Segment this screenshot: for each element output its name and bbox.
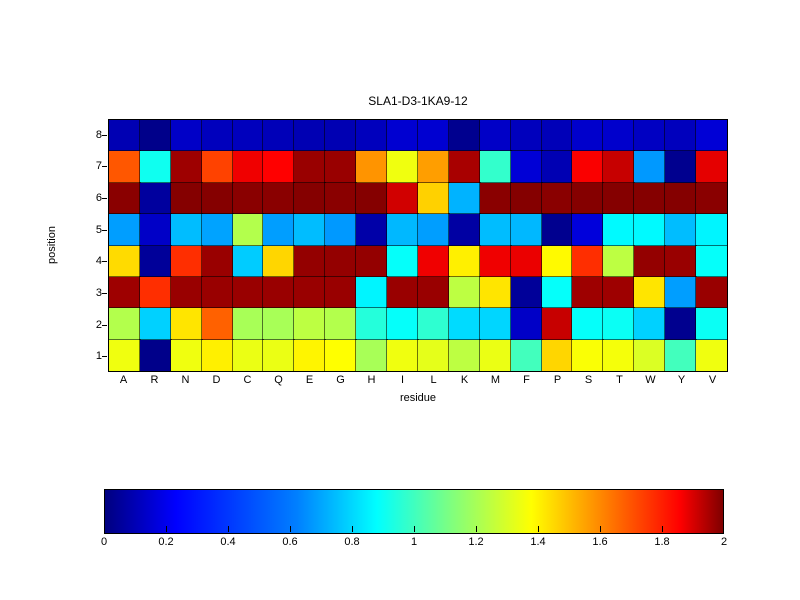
colorbar-tick-mark	[166, 526, 167, 532]
heatmap-cell	[263, 340, 294, 371]
heatmap-cell	[233, 120, 264, 151]
heatmap-cell	[202, 214, 233, 245]
heatmap-cell	[202, 277, 233, 308]
y-axis-label: position	[46, 226, 58, 264]
y-tick-mark	[102, 166, 107, 167]
heatmap-cell	[140, 246, 171, 277]
heatmap-cell	[233, 151, 264, 182]
heatmap-cell	[387, 151, 418, 182]
y-tick-mark	[102, 356, 107, 357]
heatmap-cell	[542, 246, 573, 277]
heatmap-cell	[171, 120, 202, 151]
y-axis-ticks: 87654321	[70, 119, 102, 372]
heatmap-cell	[418, 183, 449, 214]
heatmap-cell	[418, 246, 449, 277]
heatmap-cell	[480, 340, 511, 371]
heatmap-cell	[542, 277, 573, 308]
colorbar-ticks: 00.20.40.60.811.21.41.61.82	[104, 534, 724, 554]
heatmap-cell	[480, 214, 511, 245]
colorbar-tick-label: 1.6	[580, 536, 620, 549]
y-tick-label: 4	[76, 255, 102, 267]
colorbar-tick-label: 1.2	[456, 536, 496, 549]
heatmap-cell	[325, 183, 356, 214]
heatmap-cell	[387, 214, 418, 245]
heatmap-cell	[356, 183, 387, 214]
heatmap-grid	[109, 120, 727, 371]
heatmap-cell	[387, 120, 418, 151]
heatmap-cell	[572, 151, 603, 182]
heatmap-cell	[665, 308, 696, 339]
heatmap-plot-area	[108, 119, 728, 372]
colorbar-tick-mark	[662, 526, 663, 532]
heatmap-cell	[294, 340, 325, 371]
x-tick-label: S	[573, 374, 604, 387]
y-tick-mark	[102, 325, 107, 326]
heatmap-cell	[634, 308, 665, 339]
colorbar-tick-mark	[352, 526, 353, 532]
heatmap-cell	[696, 277, 727, 308]
heatmap-cell	[634, 120, 665, 151]
heatmap-cell	[603, 151, 634, 182]
x-tick-label: D	[201, 374, 232, 387]
heatmap-cell	[356, 120, 387, 151]
heatmap-cell	[542, 120, 573, 151]
heatmap-cell	[696, 214, 727, 245]
y-tick-mark	[102, 293, 107, 294]
heatmap-cell	[140, 277, 171, 308]
colorbar-tick-label: 1	[394, 536, 434, 549]
heatmap-cell	[263, 308, 294, 339]
heatmap-cell	[387, 308, 418, 339]
x-axis-label: residue	[108, 392, 728, 404]
heatmap-cell	[171, 183, 202, 214]
x-tick-label: W	[635, 374, 666, 387]
heatmap-cell	[356, 277, 387, 308]
heatmap-cell	[665, 340, 696, 371]
heatmap-cell	[665, 214, 696, 245]
heatmap-cell	[233, 308, 264, 339]
heatmap-cell	[696, 308, 727, 339]
heatmap-cell	[109, 340, 140, 371]
heatmap-cell	[418, 340, 449, 371]
x-tick-label: T	[604, 374, 635, 387]
heatmap-cell	[418, 120, 449, 151]
x-axis-ticks: ARNDCQEGHILKMFPSTWYV	[108, 374, 728, 392]
heatmap-cell	[418, 277, 449, 308]
heatmap-cell	[634, 246, 665, 277]
heatmap-cell	[665, 277, 696, 308]
heatmap-cell	[325, 277, 356, 308]
y-tick-label: 1	[76, 350, 102, 362]
heatmap-cell	[356, 340, 387, 371]
colorbar-tick-label: 0.6	[270, 536, 310, 549]
heatmap-cell	[233, 277, 264, 308]
colorbar-tick-mark	[538, 526, 539, 532]
heatmap-cell	[294, 308, 325, 339]
heatmap-cell	[603, 308, 634, 339]
heatmap-cell	[263, 214, 294, 245]
heatmap-cell	[572, 120, 603, 151]
heatmap-cell	[634, 183, 665, 214]
heatmap-cell	[511, 246, 542, 277]
heatmap-cell	[542, 308, 573, 339]
y-tick-label: 2	[76, 319, 102, 331]
heatmap-cell	[542, 183, 573, 214]
heatmap-cell	[140, 214, 171, 245]
heatmap-cell	[233, 340, 264, 371]
heatmap-cell	[542, 340, 573, 371]
heatmap-cell	[387, 246, 418, 277]
heatmap-cell	[294, 151, 325, 182]
heatmap-cell	[325, 214, 356, 245]
heatmap-cell	[572, 246, 603, 277]
heatmap-cell	[140, 340, 171, 371]
heatmap-cell	[572, 277, 603, 308]
heatmap-cell	[665, 246, 696, 277]
heatmap-cell	[418, 214, 449, 245]
heatmap-cell	[696, 183, 727, 214]
x-tick-label: V	[697, 374, 728, 387]
heatmap-cell	[356, 151, 387, 182]
heatmap-cell	[449, 340, 480, 371]
heatmap-cell	[696, 151, 727, 182]
heatmap-cell	[634, 340, 665, 371]
heatmap-cell	[634, 214, 665, 245]
heatmap-cell	[202, 183, 233, 214]
heatmap-cell	[263, 151, 294, 182]
heatmap-cell	[511, 277, 542, 308]
heatmap-cell	[233, 214, 264, 245]
heatmap-cell	[480, 120, 511, 151]
x-tick-label: H	[356, 374, 387, 387]
x-tick-label: M	[480, 374, 511, 387]
heatmap-cell	[263, 120, 294, 151]
heatmap-cell	[511, 308, 542, 339]
heatmap-cell	[603, 214, 634, 245]
heatmap-cell	[449, 151, 480, 182]
y-tick-label: 6	[76, 192, 102, 204]
heatmap-cell	[202, 308, 233, 339]
heatmap-cell	[294, 214, 325, 245]
y-tick-label: 3	[76, 287, 102, 299]
page-title: SLA1-D3-1KA9-12	[108, 94, 728, 108]
heatmap-cell	[109, 308, 140, 339]
heatmap-cell	[542, 151, 573, 182]
y-tick-mark	[102, 230, 107, 231]
heatmap-cell	[171, 151, 202, 182]
heatmap-cell	[418, 308, 449, 339]
heatmap-cell	[418, 151, 449, 182]
heatmap-cell	[511, 340, 542, 371]
heatmap-cell	[542, 214, 573, 245]
heatmap-cell	[109, 214, 140, 245]
heatmap-cell	[294, 183, 325, 214]
heatmap-cell	[233, 246, 264, 277]
y-tick-label: 8	[76, 129, 102, 141]
heatmap-cell	[140, 308, 171, 339]
heatmap-cell	[263, 277, 294, 308]
y-tick-label: 7	[76, 160, 102, 172]
heatmap-cell	[511, 183, 542, 214]
heatmap-cell	[325, 308, 356, 339]
heatmap-cell	[171, 308, 202, 339]
heatmap-cell	[109, 277, 140, 308]
heatmap-cell	[603, 246, 634, 277]
heatmap-cell	[202, 340, 233, 371]
heatmap-cell	[449, 120, 480, 151]
x-tick-label: P	[542, 374, 573, 387]
heatmap-cell	[387, 183, 418, 214]
y-tick-mark	[102, 198, 107, 199]
colorbar-tick-label: 0.2	[146, 536, 186, 549]
heatmap-cell	[356, 214, 387, 245]
heatmap-cell	[325, 340, 356, 371]
colorbar-tick-label: 1.8	[642, 536, 682, 549]
heatmap-cell	[449, 308, 480, 339]
heatmap-cell	[140, 151, 171, 182]
heatmap-cell	[449, 214, 480, 245]
x-tick-label: Q	[263, 374, 294, 387]
heatmap-cell	[572, 340, 603, 371]
colorbar-tick-label: 0.8	[332, 536, 372, 549]
heatmap-cell	[634, 151, 665, 182]
heatmap-cell	[109, 183, 140, 214]
x-tick-label: E	[294, 374, 325, 387]
heatmap-cell	[449, 183, 480, 214]
heatmap-cell	[572, 183, 603, 214]
heatmap-cell	[603, 120, 634, 151]
heatmap-cell	[140, 120, 171, 151]
x-tick-label: L	[418, 374, 449, 387]
heatmap-cell	[696, 120, 727, 151]
heatmap-cell	[665, 151, 696, 182]
heatmap-cell	[109, 120, 140, 151]
heatmap-cell	[356, 308, 387, 339]
x-tick-label: R	[139, 374, 170, 387]
x-tick-label: I	[387, 374, 418, 387]
heatmap-cell	[109, 151, 140, 182]
heatmap-cell	[263, 246, 294, 277]
heatmap-cell	[202, 151, 233, 182]
colorbar-tick-mark	[290, 526, 291, 532]
heatmap-cell	[572, 214, 603, 245]
colorbar-tick-mark	[600, 526, 601, 532]
x-tick-label: K	[449, 374, 480, 387]
heatmap-cell	[665, 120, 696, 151]
colorbar-tick-mark	[476, 526, 477, 532]
heatmap-cell	[294, 277, 325, 308]
heatmap-cell	[294, 246, 325, 277]
heatmap-cell	[325, 151, 356, 182]
colorbar-tick-label: 1.4	[518, 536, 558, 549]
colorbar-tick-mark	[414, 526, 415, 532]
heatmap-cell	[171, 246, 202, 277]
heatmap-cell	[356, 246, 387, 277]
heatmap-cell	[171, 340, 202, 371]
colorbar-tick-label: 0.4	[208, 536, 248, 549]
heatmap-cell	[233, 183, 264, 214]
heatmap-cell	[387, 277, 418, 308]
x-tick-label: G	[325, 374, 356, 387]
heatmap-cell	[325, 246, 356, 277]
heatmap-cell	[480, 246, 511, 277]
heatmap-cell	[140, 183, 171, 214]
heatmap-cell	[325, 120, 356, 151]
heatmap-cell	[634, 277, 665, 308]
colorbar-tick-mark	[228, 526, 229, 532]
heatmap-cell	[572, 308, 603, 339]
heatmap-cell	[480, 277, 511, 308]
x-tick-label: Y	[666, 374, 697, 387]
heatmap-cell	[603, 277, 634, 308]
heatmap-cell	[511, 151, 542, 182]
heatmap-cell	[202, 120, 233, 151]
heatmap-cell	[480, 308, 511, 339]
y-tick-mark	[102, 135, 107, 136]
y-tick-label: 5	[76, 224, 102, 236]
heatmap-cell	[109, 246, 140, 277]
colorbar-tick-label: 2	[704, 536, 744, 549]
heatmap-cell	[511, 120, 542, 151]
colorbar-tick-label: 0	[84, 536, 124, 549]
heatmap-cell	[696, 246, 727, 277]
heatmap-cell	[202, 246, 233, 277]
heatmap-cell	[603, 183, 634, 214]
heatmap-cell	[263, 183, 294, 214]
x-tick-label: A	[108, 374, 139, 387]
heatmap-cell	[387, 340, 418, 371]
heatmap-cell	[511, 214, 542, 245]
x-tick-label: C	[232, 374, 263, 387]
y-tick-mark	[102, 261, 107, 262]
heatmap-cell	[696, 340, 727, 371]
x-tick-label: F	[511, 374, 542, 387]
heatmap-cell	[665, 183, 696, 214]
heatmap-cell	[294, 120, 325, 151]
heatmap-cell	[171, 214, 202, 245]
heatmap-cell	[480, 151, 511, 182]
figure-canvas: SLA1-D3-1KA9-12 position 87654321 ARNDCQ…	[0, 0, 800, 600]
x-tick-label: N	[170, 374, 201, 387]
heatmap-cell	[449, 277, 480, 308]
heatmap-cell	[171, 277, 202, 308]
heatmap-cell	[480, 183, 511, 214]
heatmap-cell	[603, 340, 634, 371]
heatmap-cell	[449, 246, 480, 277]
